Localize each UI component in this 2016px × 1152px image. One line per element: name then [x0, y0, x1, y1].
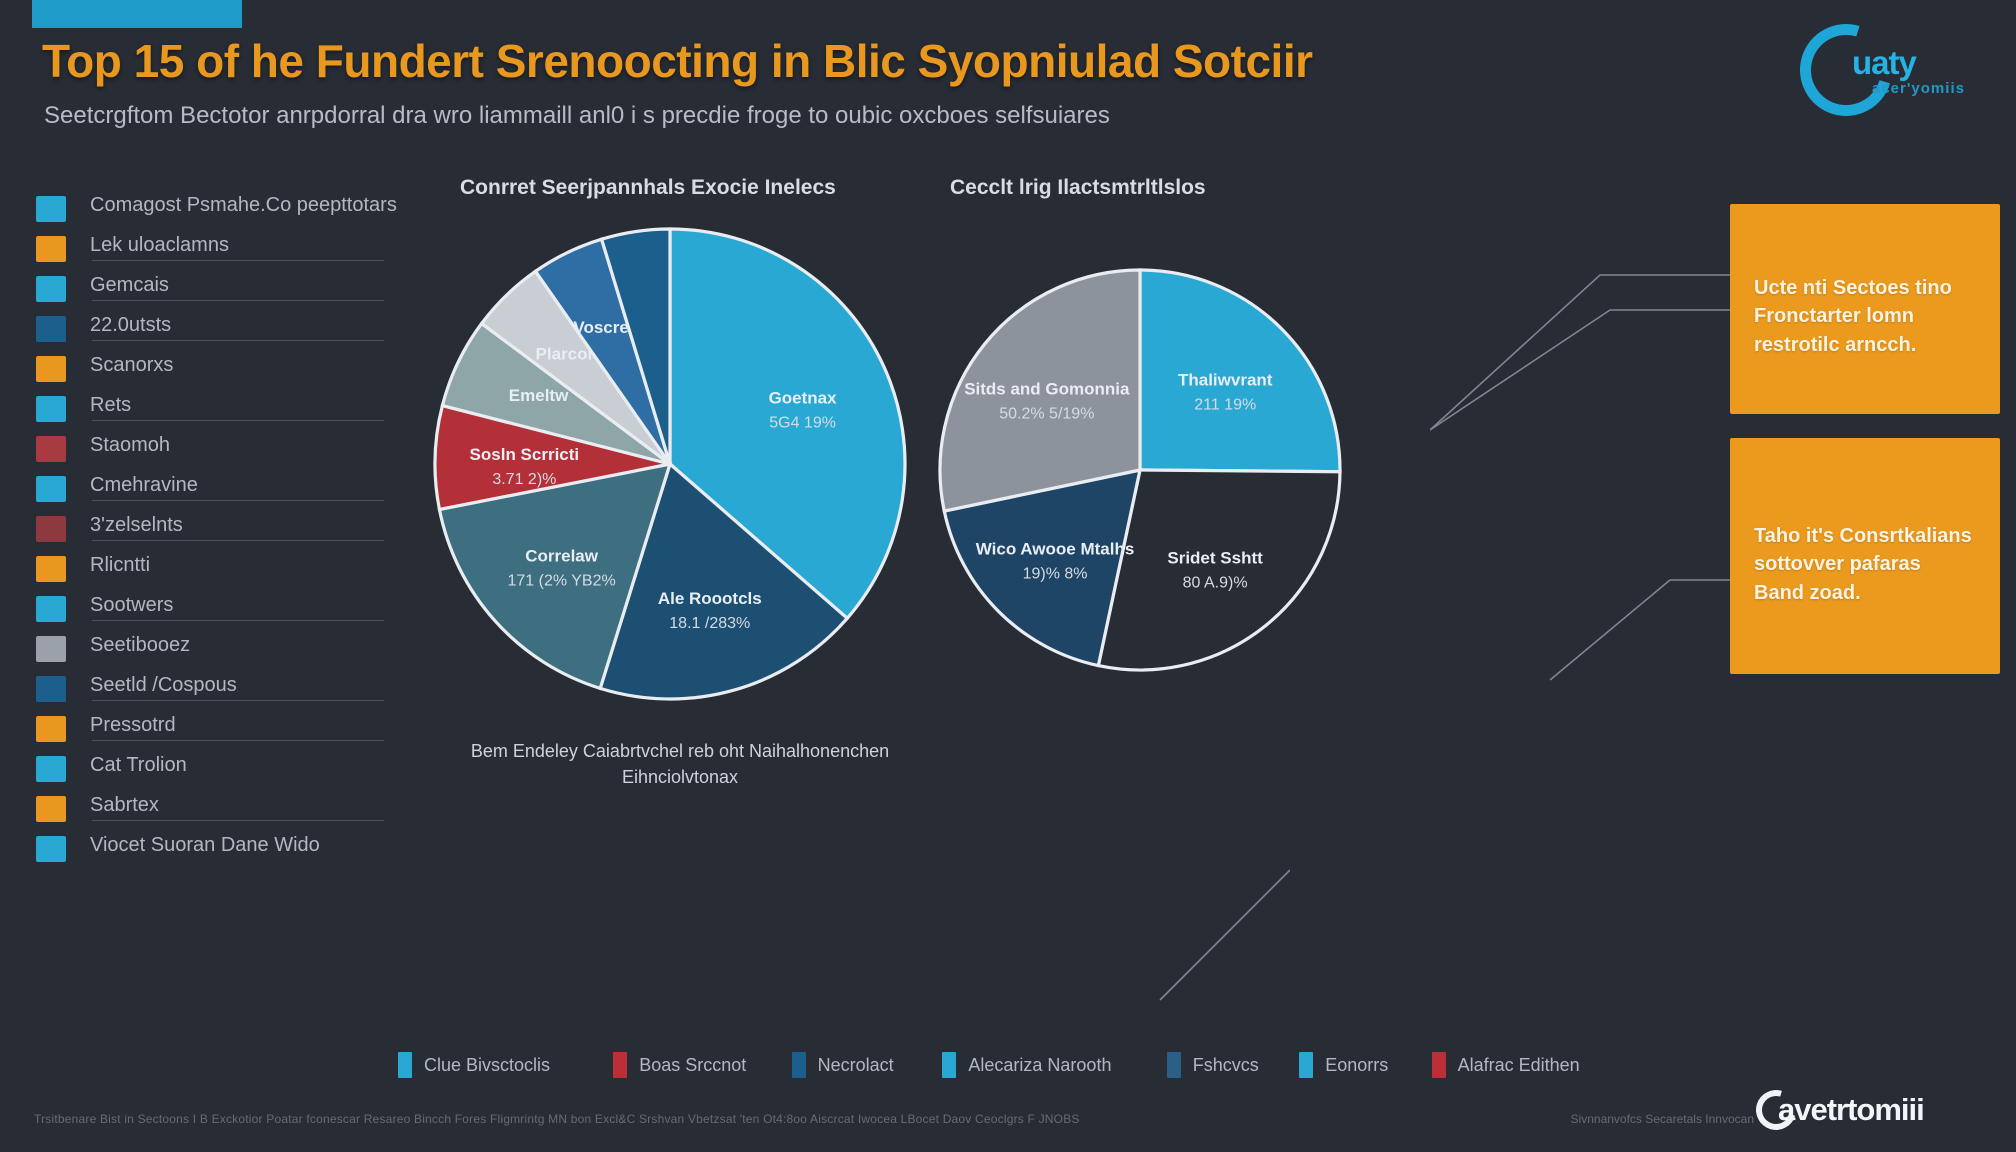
- legend-item[interactable]: Gemcais: [36, 270, 436, 310]
- bottom-legend-label: Alecariza Narooth: [968, 1055, 1111, 1076]
- brand-logo: uaty acer'yomiis: [1794, 18, 1980, 122]
- legend-swatch: [36, 836, 66, 862]
- pie-slice-label: Goetnax: [769, 389, 838, 408]
- footer-logo: avetrtomiii: [1756, 1086, 1986, 1136]
- legend-item[interactable]: Staomoh: [36, 430, 436, 470]
- legend-item[interactable]: Seetibooez: [36, 630, 436, 670]
- bottom-legend: Clue BivsctoclisBoas SrccnotNecrolactAle…: [398, 1052, 1698, 1086]
- legend-item-label: Cmehravine: [90, 474, 198, 497]
- pie-slice-value: 80 A.9)%: [1183, 575, 1248, 592]
- bottom-legend-swatch: [613, 1052, 627, 1078]
- legend-item[interactable]: Sabrtex: [36, 790, 436, 830]
- legend-item-label: Pressotrd: [90, 714, 176, 737]
- accent-bar: [32, 0, 242, 28]
- callout-box-1: Ucte nti Sectoes tino Fronctarter lomn r…: [1730, 204, 2000, 414]
- legend-divider: [92, 300, 384, 301]
- legend-divider: [92, 740, 384, 741]
- legend-item-label: Cat Trolion: [90, 754, 187, 777]
- legend-item-label: Lek uloaclamns: [90, 234, 229, 257]
- legend-item[interactable]: Comagost Psmahe.Co peepttotars: [36, 190, 436, 230]
- bottom-legend-item[interactable]: Boas Srccnot: [613, 1052, 746, 1082]
- legend-divider: [92, 420, 384, 421]
- bottom-legend-swatch: [398, 1052, 412, 1078]
- legend-item[interactable]: Rets: [36, 390, 436, 430]
- bottom-legend-item[interactable]: Clue Bivsctoclis: [398, 1052, 550, 1082]
- logo-tagline: acer'yomiis: [1872, 80, 1965, 97]
- legend-item-label: Rets: [90, 394, 131, 417]
- legend-swatch: [36, 516, 66, 542]
- bottom-legend-label: Necrolact: [818, 1055, 894, 1076]
- legend-item[interactable]: Seetld /Cospous: [36, 670, 436, 710]
- pie-slice-value: 3.71 2)%: [492, 471, 556, 488]
- pie-slice-label: Wico Awooe Mtalhs: [976, 540, 1135, 559]
- bottom-legend-item[interactable]: Fshcvcs: [1167, 1052, 1259, 1082]
- legend-item[interactable]: Viocet Suoran Dane Wido: [36, 830, 436, 870]
- legend-swatch: [36, 316, 66, 342]
- legend-item[interactable]: 22.0utsts: [36, 310, 436, 350]
- pie-slice-value: 5G4 19%: [769, 415, 836, 432]
- bottom-legend-item[interactable]: Necrolact: [792, 1052, 894, 1082]
- legend-divider: [92, 260, 384, 261]
- legend-swatch: [36, 756, 66, 782]
- legend-list: Comagost Psmahe.Co peepttotarsLek uloacl…: [36, 190, 436, 870]
- callout-leader-lines: [1430, 180, 1740, 700]
- logo-wordmark: uaty: [1852, 44, 1916, 82]
- legend-item-label: 22.0utsts: [90, 314, 171, 337]
- legend-swatch: [36, 476, 66, 502]
- bottom-legend-item[interactable]: Alafrac Edithen: [1432, 1052, 1580, 1082]
- bottom-legend-label: Fshcvcs: [1193, 1055, 1259, 1076]
- pie-slice-label: Sosln Scrricti: [470, 445, 580, 464]
- legend-divider: [92, 540, 384, 541]
- legend-divider: [92, 500, 384, 501]
- legend-swatch: [36, 356, 66, 382]
- legend-swatch: [36, 236, 66, 262]
- pie-slice-value: 19)% 8%: [1023, 566, 1088, 583]
- bottom-legend-label: Alafrac Edithen: [1458, 1055, 1580, 1076]
- legend-item-label: Seetld /Cospous: [90, 674, 237, 697]
- legend-item[interactable]: Pressotrd: [36, 710, 436, 750]
- pie-slice-label: Thaliwvrant: [1178, 371, 1273, 390]
- footer-logo-wordmark: avetrtomiii: [1778, 1092, 1924, 1128]
- legend-swatch: [36, 636, 66, 662]
- callout-text-2: Taho it's Consrtkalians sottovver pafara…: [1754, 522, 1976, 607]
- callout-text-1: Ucte nti Sectoes tino Fronctarter lomn r…: [1754, 274, 1976, 359]
- footer-credit: Sivnnanvofcs Secaretals Innvocan: [1571, 1112, 1754, 1126]
- bottom-legend-swatch: [1432, 1052, 1446, 1078]
- legend-item[interactable]: Sootwers: [36, 590, 436, 630]
- legend-item[interactable]: Cat Trolion: [36, 750, 436, 790]
- legend-swatch: [36, 676, 66, 702]
- legend-swatch: [36, 716, 66, 742]
- pie-slice-value: 211 19%: [1194, 397, 1256, 414]
- pie-slice-label: Sridet Sshtt: [1167, 549, 1263, 568]
- legend-swatch: [36, 436, 66, 462]
- bottom-legend-item[interactable]: Eonorrs: [1299, 1052, 1388, 1082]
- legend-item-label: Seetibooez: [90, 634, 190, 657]
- legend-swatch: [36, 556, 66, 582]
- bottom-legend-label: Boas Srccnot: [639, 1055, 746, 1076]
- legend-divider: [92, 620, 384, 621]
- legend-item[interactable]: Scanorxs: [36, 350, 436, 390]
- legend-item[interactable]: Rlicntti: [36, 550, 436, 590]
- pie-chart-secondary: Thaliwvrant211 19%Sridet Sshtt80 A.9)%Wi…: [900, 230, 1380, 710]
- legend-item-label: Sootwers: [90, 594, 173, 617]
- callout-box-2: Taho it's Consrtkalians sottovver pafara…: [1730, 438, 2000, 674]
- legend-item-label: Staomoh: [90, 434, 170, 457]
- legend-swatch: [36, 596, 66, 622]
- pie-right-title: Cecclt lrig Ilactsmtrltlslos: [950, 176, 1206, 200]
- legend-item-label: Scanorxs: [90, 354, 173, 377]
- legend-divider: [92, 820, 384, 821]
- bottom-legend-label: Eonorrs: [1325, 1055, 1388, 1076]
- pie-slice-value: 171 (2% YB2%: [508, 572, 616, 589]
- pie-left-caption: Bem Endeley Caiabrtvchel reb oht Naihalh…: [470, 738, 890, 790]
- pie-slice-label: Sitds and Gomonnia: [964, 379, 1130, 398]
- bottom-legend-label: Clue Bivsctoclis: [424, 1055, 550, 1076]
- legend-item[interactable]: Lek uloaclamns: [36, 230, 436, 270]
- bottom-legend-swatch: [942, 1052, 956, 1078]
- legend-divider: [92, 340, 384, 341]
- legend-swatch: [36, 396, 66, 422]
- bottom-legend-swatch: [1167, 1052, 1181, 1078]
- pie-slice-value: 18.1 /283%: [669, 615, 750, 632]
- bottom-legend-item[interactable]: Alecariza Narooth: [942, 1052, 1111, 1082]
- legend-swatch: [36, 796, 66, 822]
- legend-item[interactable]: Cmehravine: [36, 470, 436, 510]
- legend-item[interactable]: 3'zelselnts: [36, 510, 436, 550]
- page-title: Top 15 of he Fundert Srenoocting in Blic…: [42, 34, 1742, 88]
- pie-slice-label: Emeltw: [509, 386, 569, 405]
- legend-item-label: Sabrtex: [90, 794, 159, 817]
- page-subtitle: Seetcrgftom Bectotor anrpdorral dra wro …: [44, 102, 1604, 130]
- pie-chart-primary: Goetnax5G4 19%Ale Roootcls18.1 /283%Corr…: [400, 194, 940, 734]
- caption-leader-line: [960, 860, 1290, 1020]
- bottom-legend-swatch: [1299, 1052, 1313, 1078]
- bottom-legend-swatch: [792, 1052, 806, 1078]
- legend-item-label: Comagost Psmahe.Co peepttotars: [90, 194, 397, 217]
- pie-slice-label: Ale Roootcls: [658, 589, 762, 608]
- footer-source-note: Trsitbenare Bist in Sectoons I B Exckoti…: [34, 1112, 1080, 1126]
- pie-slice-label: Correlaw: [525, 546, 599, 565]
- legend-swatch: [36, 196, 66, 222]
- pie-slice-value: 50.2% 5/19%: [999, 405, 1094, 422]
- legend-item-label: Rlicntti: [90, 554, 150, 577]
- legend-item-label: Viocet Suoran Dane Wido: [90, 834, 320, 857]
- infographic-root: Top 15 of he Fundert Srenoocting in Blic…: [0, 0, 2016, 1152]
- legend-divider: [92, 700, 384, 701]
- legend-item-label: Gemcais: [90, 274, 169, 297]
- legend-swatch: [36, 276, 66, 302]
- legend-item-label: 3'zelselnts: [90, 514, 183, 537]
